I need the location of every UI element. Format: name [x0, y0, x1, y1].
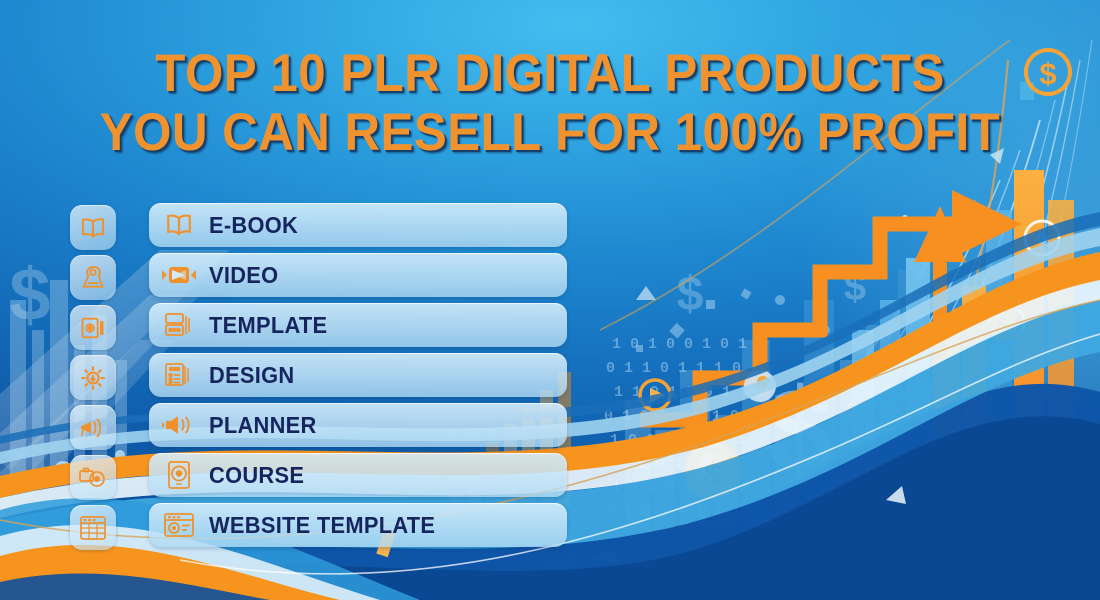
product-label: VIDEO	[209, 262, 278, 289]
template-icon	[157, 311, 201, 339]
pill-planner[interactable]: PLANNER	[149, 403, 567, 447]
product-label: COURSE	[209, 462, 304, 489]
pill-design[interactable]: DESIGN	[149, 353, 567, 397]
product-label: TEMPLATE	[209, 312, 327, 339]
pill-ebook[interactable]: E-BOOK	[149, 203, 567, 247]
badge-ebook[interactable]	[70, 205, 116, 250]
promo-banner: $ $ $ $ $ $ $ $ $	[0, 0, 1100, 600]
badge-website-template[interactable]	[70, 505, 116, 550]
product-label: PLANNER	[209, 412, 317, 439]
book-icon	[157, 210, 201, 240]
video-icon	[157, 262, 201, 288]
product-label: E-BOOK	[209, 212, 298, 239]
badge-planner[interactable]	[70, 405, 116, 450]
video-pin-icon	[79, 264, 107, 292]
pill-template[interactable]: TEMPLATE	[149, 303, 567, 347]
badge-template[interactable]	[70, 305, 116, 350]
design-list-icon	[157, 361, 201, 389]
pill-website-template[interactable]: WEBSITE TEMPLATE	[149, 503, 567, 547]
badge-design[interactable]	[70, 355, 116, 400]
camera-icon	[78, 465, 108, 491]
design-icon	[78, 363, 108, 393]
badge-course[interactable]	[70, 455, 116, 500]
pill-course[interactable]: COURSE	[149, 453, 567, 497]
template-icon	[79, 314, 107, 342]
pill-video[interactable]: VIDEO	[149, 253, 567, 297]
book-icon	[79, 214, 107, 242]
product-label: WEBSITE TEMPLATE	[209, 512, 435, 539]
badge-video[interactable]	[70, 255, 116, 300]
course-icon	[157, 460, 201, 490]
product-label: DESIGN	[209, 362, 294, 389]
megaphone-icon	[78, 415, 108, 441]
speaker-icon	[157, 412, 201, 438]
browser-icon	[157, 511, 201, 539]
webpage-icon	[78, 514, 108, 542]
